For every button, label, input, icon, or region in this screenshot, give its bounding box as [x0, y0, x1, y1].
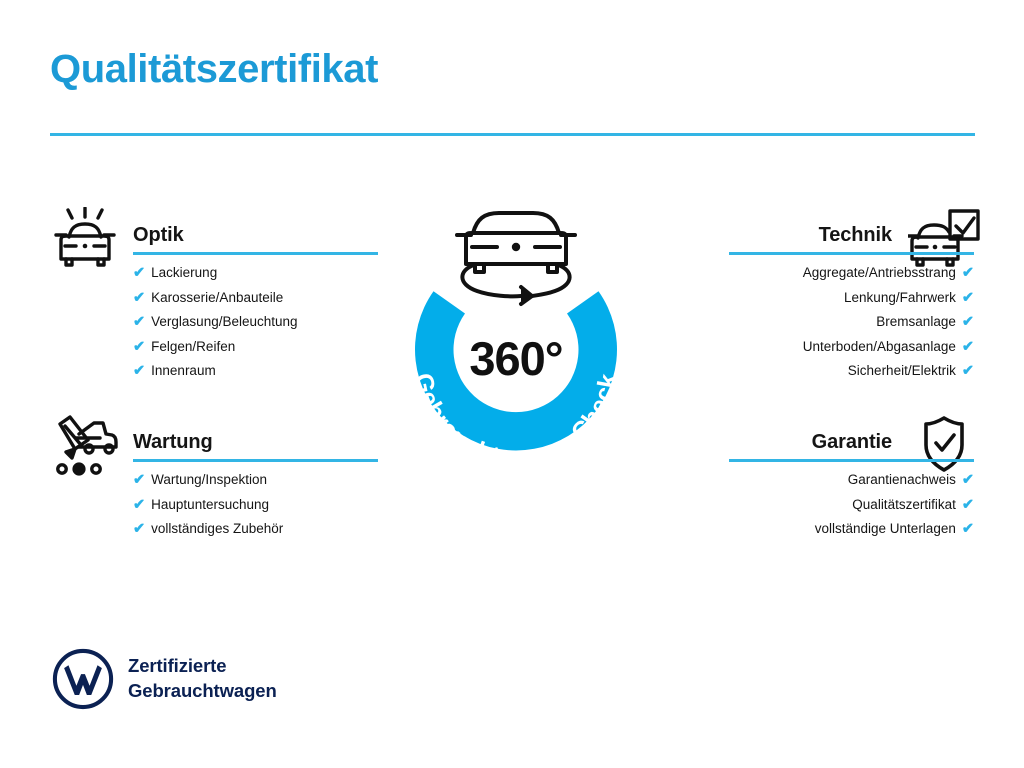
section-optik: Optik ✔Lackierung ✔Karosserie/Anbauteile… [42, 205, 392, 384]
list-item: ✔Innenraum [133, 359, 392, 384]
list-item-label: Bremsanlage [876, 314, 956, 329]
section-divider [133, 459, 378, 462]
list-item: ✔Verglasung/Beleuchtung [133, 310, 392, 335]
checklist-technik: Aggregate/Antriebsstrang✔ Lenkung/Fahrwe… [632, 261, 982, 384]
list-item: Lenkung/Fahrwerk✔ [632, 286, 974, 311]
list-item-label: vollständige Unterlagen [815, 521, 956, 536]
check-icon: ✔ [133, 311, 145, 335]
car-rotation-icon [457, 213, 575, 304]
vw-footer-lockup: Zertifizierte Gebrauchtwagen [52, 648, 277, 710]
list-item: ✔Lackierung [133, 261, 392, 286]
check-icon: ✔ [133, 336, 145, 360]
badge-center-value: 360° [371, 331, 661, 386]
list-item: Bremsanlage✔ [632, 310, 974, 335]
list-item: ✔Wartung/Inspektion [133, 468, 392, 493]
list-item: ✔Karosserie/Anbauteile [133, 286, 392, 311]
checklist-garantie: Garantienachweis✔ Qualitätszertifikat✔ v… [632, 468, 982, 542]
section-title: Technik [819, 224, 892, 247]
section-title: Wartung [133, 431, 213, 454]
section-header-technik: Technik [632, 205, 982, 261]
check-icon: ✔ [962, 360, 974, 384]
list-item-label: Lackierung [151, 265, 217, 280]
section-wartung: Wartung ✔Wartung/Inspektion ✔Hauptunters… [42, 412, 392, 542]
section-header-wartung: Wartung [42, 412, 392, 468]
list-item: ✔Hauptuntersuchung [133, 493, 392, 518]
list-item-label: Innenraum [151, 363, 216, 378]
page-title: Qualitätszertifikat [50, 48, 378, 90]
list-item-label: Wartung/Inspektion [151, 472, 267, 487]
list-item-label: Unterboden/Abgasanlage [803, 339, 956, 354]
section-header-garantie: Garantie [632, 412, 982, 468]
badge-360-gebrauchtwagen-check: Gebrauchtwagen-Check 360° [371, 190, 661, 490]
qualitaetszertifikat-page: Qualitätszertifikat [0, 0, 1024, 768]
list-item: vollständige Unterlagen✔ [632, 517, 974, 542]
section-title: Garantie [812, 431, 892, 454]
check-icon: ✔ [133, 262, 145, 286]
check-icon: ✔ [962, 311, 974, 335]
list-item-label: Qualitätszertifikat [852, 497, 956, 512]
list-item: ✔vollständiges Zubehör [133, 517, 392, 542]
section-title: Optik [133, 224, 184, 247]
check-icon: ✔ [962, 518, 974, 542]
section-garantie: Garantie Garantienachweis✔ Qualitätszert… [632, 412, 982, 542]
lockup-line-1: Zertifizierte [128, 654, 277, 679]
list-item: Unterboden/Abgasanlage✔ [632, 335, 974, 360]
list-item: Sicherheit/Elektrik✔ [632, 359, 974, 384]
check-icon: ✔ [962, 287, 974, 311]
list-item: ✔Felgen/Reifen [133, 335, 392, 360]
check-icon: ✔ [133, 287, 145, 311]
section-divider [729, 459, 974, 462]
lockup-line-2: Gebrauchtwagen [128, 679, 277, 704]
title-divider [50, 133, 975, 136]
section-divider [729, 252, 974, 255]
list-item-label: Lenkung/Fahrwerk [844, 290, 956, 305]
vw-logo-icon [52, 648, 114, 710]
list-item-label: Karosserie/Anbauteile [151, 290, 283, 305]
section-technik: Technik Aggregate/Antriebsstrang✔ Lenkun… [632, 205, 982, 384]
list-item-label: Verglasung/Beleuchtung [151, 314, 297, 329]
check-icon: ✔ [133, 360, 145, 384]
list-item-label: Hauptuntersuchung [151, 497, 269, 512]
check-icon: ✔ [962, 494, 974, 518]
check-icon: ✔ [133, 469, 145, 493]
section-header-optik: Optik [42, 205, 392, 261]
check-icon: ✔ [962, 336, 974, 360]
list-item: Qualitätszertifikat✔ [632, 493, 974, 518]
check-icon: ✔ [133, 518, 145, 542]
section-divider [133, 252, 378, 255]
list-item-label: Sicherheit/Elektrik [848, 363, 956, 378]
check-icon: ✔ [133, 494, 145, 518]
vw-lockup-text: Zertifizierte Gebrauchtwagen [128, 654, 277, 703]
list-item-label: vollständiges Zubehör [151, 521, 283, 536]
list-item-label: Felgen/Reifen [151, 339, 235, 354]
checklist-optik: ✔Lackierung ✔Karosserie/Anbauteile ✔Verg… [42, 261, 392, 384]
checklist-wartung: ✔Wartung/Inspektion ✔Hauptuntersuchung ✔… [42, 468, 392, 542]
